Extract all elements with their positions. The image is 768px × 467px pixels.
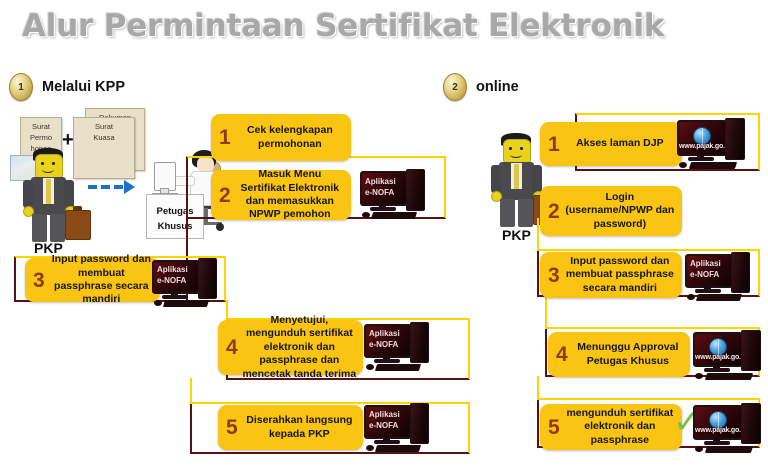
monitor-tower	[198, 258, 217, 299]
right-step-1-number: 1	[540, 134, 562, 155]
left-step-1[interactable]: 1 Cek kelengkapan permohonan	[211, 114, 351, 161]
monitor-screen	[685, 254, 733, 288]
monitor-base	[704, 368, 730, 372]
monitor-enofa-l3: Aplikasi e-NOFA	[152, 258, 224, 308]
doc-line-2: Kuasa	[74, 133, 134, 144]
eye-icon	[41, 162, 44, 165]
arrow-head-icon	[124, 180, 135, 194]
page-title: Alur Permintaan Sertifikat Elektronik	[22, 8, 664, 44]
smile-icon	[510, 151, 522, 158]
globe-icon	[709, 338, 727, 356]
right-step-2-text: Login (username/NPWP dan password)	[562, 191, 682, 231]
right-step-4-text: Menunggu Approval Petugas Khusus	[570, 341, 690, 368]
monitor-tower	[731, 252, 750, 293]
monitor-web-r4: www.pajak.go.id	[693, 330, 767, 380]
briefcase-handle-icon	[73, 206, 82, 211]
monitor-enofa-l2: Aplikasi e-NOFA	[360, 169, 432, 221]
monitor-screen	[364, 405, 412, 439]
mouse-icon	[679, 162, 687, 168]
left-step-4-text: Menyetujui, mengunduh sertifikat elektro…	[240, 314, 363, 381]
arm-left	[491, 165, 501, 193]
tie	[46, 179, 51, 204]
section-header-kpp: 1 Melalui KPP	[9, 73, 125, 101]
left-step-2-number: 2	[211, 185, 233, 206]
section-badge-1: 1	[9, 73, 33, 101]
connector-line-l3	[226, 300, 228, 320]
right-step-3-text: Input password dan membuat passphrase se…	[562, 255, 682, 295]
mouse-icon	[695, 446, 703, 452]
monitor-web-r5: www.pajak.go.id	[693, 403, 767, 453]
monitor-enofa-l4: Aplikasi e-NOFA	[364, 322, 436, 372]
left-step-3-text: Input password dan membuat passphrase se…	[47, 253, 160, 307]
keyboard-icon	[689, 162, 737, 169]
section-label-online: online	[476, 79, 519, 95]
monitor-screen	[360, 171, 408, 206]
doc-line-1: Surat	[21, 122, 61, 133]
leg-right	[518, 199, 533, 227]
monitor-tower	[410, 322, 429, 363]
mouse-icon	[362, 212, 370, 218]
section-header-online: 2 online	[443, 73, 519, 101]
arm-right	[64, 180, 74, 208]
keyboard-icon	[375, 445, 421, 452]
connector-line-r1	[537, 218, 539, 251]
left-step-1-text: Cek kelengkapan permohonan	[233, 124, 351, 151]
left-step-5-text: Diserahkan langsung kepada PKP	[240, 414, 363, 441]
leg-left	[500, 199, 515, 227]
monitor-enofa-l5: Aplikasi e-NOFA	[364, 403, 436, 453]
chair-wheel	[216, 223, 224, 231]
monitor-base	[695, 289, 721, 293]
monitor-base	[688, 157, 714, 161]
monitor-web-r1: www.pajak.go.id	[677, 118, 755, 170]
briefcase-icon	[65, 210, 91, 240]
keyboard-icon	[371, 212, 417, 219]
mouse-icon	[366, 364, 374, 370]
globe-icon	[709, 411, 727, 429]
eye-icon	[509, 147, 512, 150]
arrow-dash-3	[114, 185, 123, 189]
right-step-2[interactable]: 2 Login (username/NPWP dan password)	[540, 186, 682, 236]
keyboard-icon	[705, 446, 753, 453]
left-step-4-number: 4	[218, 337, 240, 358]
smile-icon	[42, 166, 54, 173]
monitor-base	[704, 441, 730, 445]
section-badge-2: 2	[443, 73, 467, 101]
right-step-3-number: 3	[540, 265, 562, 286]
right-step-4-number: 4	[548, 344, 570, 365]
right-step-3[interactable]: 3 Input password dan membuat passphrase …	[540, 252, 682, 298]
left-step-4[interactable]: 4 Menyetujui, mengunduh sertifikat elekt…	[218, 320, 363, 375]
right-step-5[interactable]: 5 mengunduh sertifikat elektronik dan pa…	[540, 404, 682, 450]
section-label-kpp: Melalui KPP	[42, 79, 125, 95]
right-step-4[interactable]: 4 Menunggu Approval Petugas Khusus	[548, 332, 690, 377]
arrow-dash-1	[88, 185, 97, 189]
right-step-5-text: mengunduh sertifikat elektronik dan pass…	[562, 407, 682, 447]
monitor-base	[370, 207, 396, 211]
tie	[514, 164, 519, 189]
monitor-base	[374, 359, 400, 363]
left-step-3[interactable]: 3 Input password dan membuat passphrase …	[25, 258, 160, 302]
keyboard-icon	[696, 294, 742, 301]
desk-monitor	[154, 162, 176, 191]
left-step-5-number: 5	[218, 417, 240, 438]
leg-left	[32, 214, 47, 242]
connector-line-l4	[190, 378, 192, 404]
monitor-tower	[725, 118, 745, 160]
right-step-1-text: Akses laman DJP	[562, 137, 682, 150]
arm-right	[532, 165, 542, 193]
flowchart-canvas: Alur Permintaan Sertifikat Elektronik 1 …	[0, 0, 768, 467]
monitor-base	[374, 440, 400, 444]
keyboard-icon	[163, 300, 209, 307]
mouse-icon	[366, 445, 374, 451]
keyboard-icon	[705, 373, 753, 380]
mouse-icon	[687, 294, 695, 300]
left-step-3-number: 3	[25, 270, 47, 291]
pkp-label-right: PKP	[502, 227, 531, 243]
left-step-1-number: 1	[211, 127, 233, 148]
connector-line-r3	[537, 376, 539, 400]
mouse-icon	[695, 373, 703, 379]
eye-icon	[520, 147, 523, 150]
monitor-tower	[410, 403, 429, 444]
monitor-enofa-r3: Aplikasi e-NOFA	[685, 252, 759, 302]
left-step-2-text: Masuk Menu Sertifikat Elektronik dan mem…	[233, 168, 351, 222]
right-step-1[interactable]: 1 Akses laman DJP	[540, 122, 682, 166]
clerk-label-line2: Khusus	[147, 220, 203, 234]
arrow-dash-2	[101, 185, 110, 189]
left-step-5[interactable]: 5 Diserahkan langsung kepada PKP	[218, 405, 363, 450]
arm-left	[23, 180, 33, 208]
monitor-tower	[741, 330, 761, 371]
monitor-tower	[741, 403, 761, 444]
pkp-figure-left: PKP	[18, 148, 98, 253]
leg-right	[50, 214, 65, 242]
doc-line-1: Surat	[74, 122, 134, 133]
eye-icon	[52, 162, 55, 165]
globe-icon	[693, 127, 711, 145]
monitor-screen	[152, 260, 200, 294]
keyboard-icon	[375, 364, 421, 371]
monitor-screen	[364, 324, 412, 358]
right-step-2-number: 2	[540, 201, 562, 222]
connector-line-r2	[545, 297, 547, 329]
left-step-2[interactable]: 2 Masuk Menu Sertifikat Elektronik dan m…	[211, 170, 351, 220]
right-step-5-number: 5	[540, 417, 562, 438]
mouse-icon	[154, 300, 162, 306]
monitor-base	[162, 295, 188, 299]
monitor-tower	[406, 169, 425, 211]
doc-line-2: Permo	[21, 133, 61, 144]
